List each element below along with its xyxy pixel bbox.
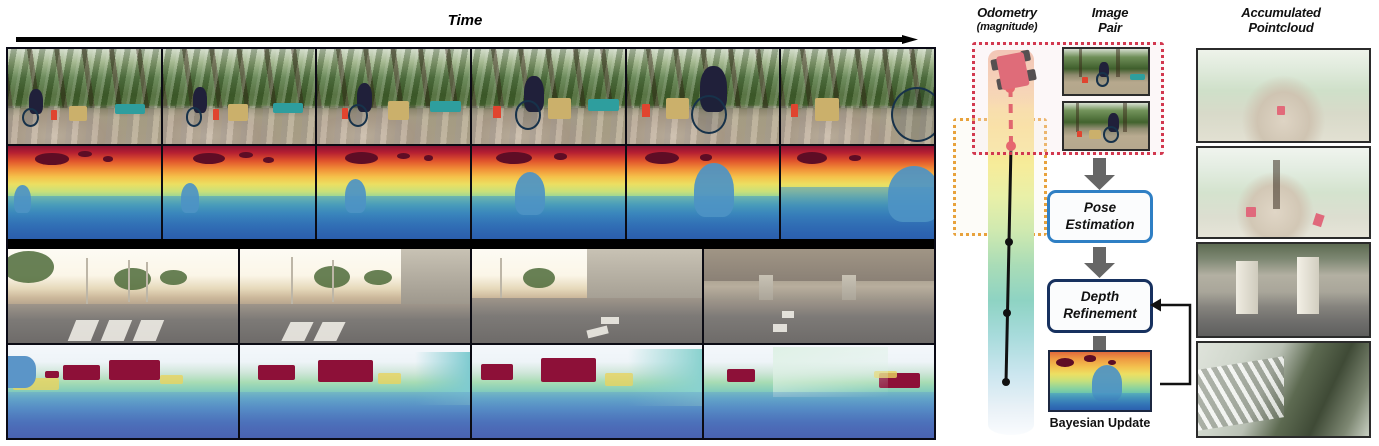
depth-cell[interactable] [163,146,318,239]
pointcloud-forest-view-1[interactable] [1196,48,1371,143]
sequence-urban [8,249,934,438]
odometry-subtitle: (magnitude) [948,21,1066,33]
pointcloud-urban-stairs[interactable] [1196,341,1371,438]
image-sequence-grid [6,47,936,440]
frame-cell[interactable] [8,49,163,144]
frame-cell[interactable] [240,249,472,343]
frame-cell[interactable] [8,249,240,343]
arrow-to-pose-estimation [1083,158,1116,190]
frame-cell[interactable] [163,49,318,144]
image-pair-thumb-bottom[interactable] [1062,101,1150,151]
odometry-title: Odometry [977,5,1037,20]
trajectory-node [1003,309,1011,317]
sequence-forest [8,49,934,239]
feedback-loop-arrow [1150,292,1196,388]
pose-estimation-box[interactable]: Pose Estimation [1047,190,1153,243]
urban-depth-row [8,343,934,438]
depth-refinement-box[interactable]: Depth Refinement [1047,279,1153,333]
frame-cell[interactable] [472,49,627,144]
pose-estimation-label: Pose Estimation [1065,200,1134,234]
trajectory-node [1005,238,1013,246]
pointcloud-line1: Accumulated [1241,5,1320,20]
sequence-separator [8,239,934,249]
depth-cell[interactable] [8,146,163,239]
depth-cell[interactable] [472,146,627,239]
pointcloud-header: Accumulated Pointcloud [1186,6,1376,35]
forest-rgb-row [8,49,934,144]
arrow-to-depth-refinement [1083,247,1116,278]
bayesian-update-image[interactable] [1048,350,1152,412]
depth-refinement-label: Depth Refinement [1063,289,1137,323]
time-axis-arrow [16,35,918,44]
bayesian-update-label: Bayesian Update [1040,416,1160,430]
depth-cell[interactable] [317,146,472,239]
forest-depth-row [8,144,934,239]
depth-cell[interactable] [472,345,704,438]
urban-rgb-row [8,249,934,343]
frame-cell[interactable] [627,49,782,144]
depth-cell[interactable] [704,345,934,438]
odometry-header: Odometry (magnitude) [948,6,1066,33]
depth-cell[interactable] [240,345,472,438]
image-pair-header: Image Pair [1062,6,1158,35]
time-axis-label: Time [0,12,930,29]
frame-cell[interactable] [317,49,472,144]
image-pair-line1: Image [1092,5,1129,20]
frame-cell[interactable] [704,249,934,343]
figure-canvas: Time [0,0,1379,446]
trajectory-node [1002,378,1010,386]
frame-cell[interactable] [781,49,934,144]
image-pair-thumb-top[interactable] [1062,47,1150,96]
depth-cell[interactable] [8,345,240,438]
depth-cell[interactable] [627,146,782,239]
frame-cell[interactable] [472,249,704,343]
depth-cell[interactable] [781,146,934,239]
image-pair-line2: Pair [1098,20,1122,35]
pointcloud-forest-view-2[interactable] [1196,146,1371,239]
pointcloud-urban-colonnade[interactable] [1196,242,1371,338]
pointcloud-line2: Pointcloud [1248,20,1313,35]
